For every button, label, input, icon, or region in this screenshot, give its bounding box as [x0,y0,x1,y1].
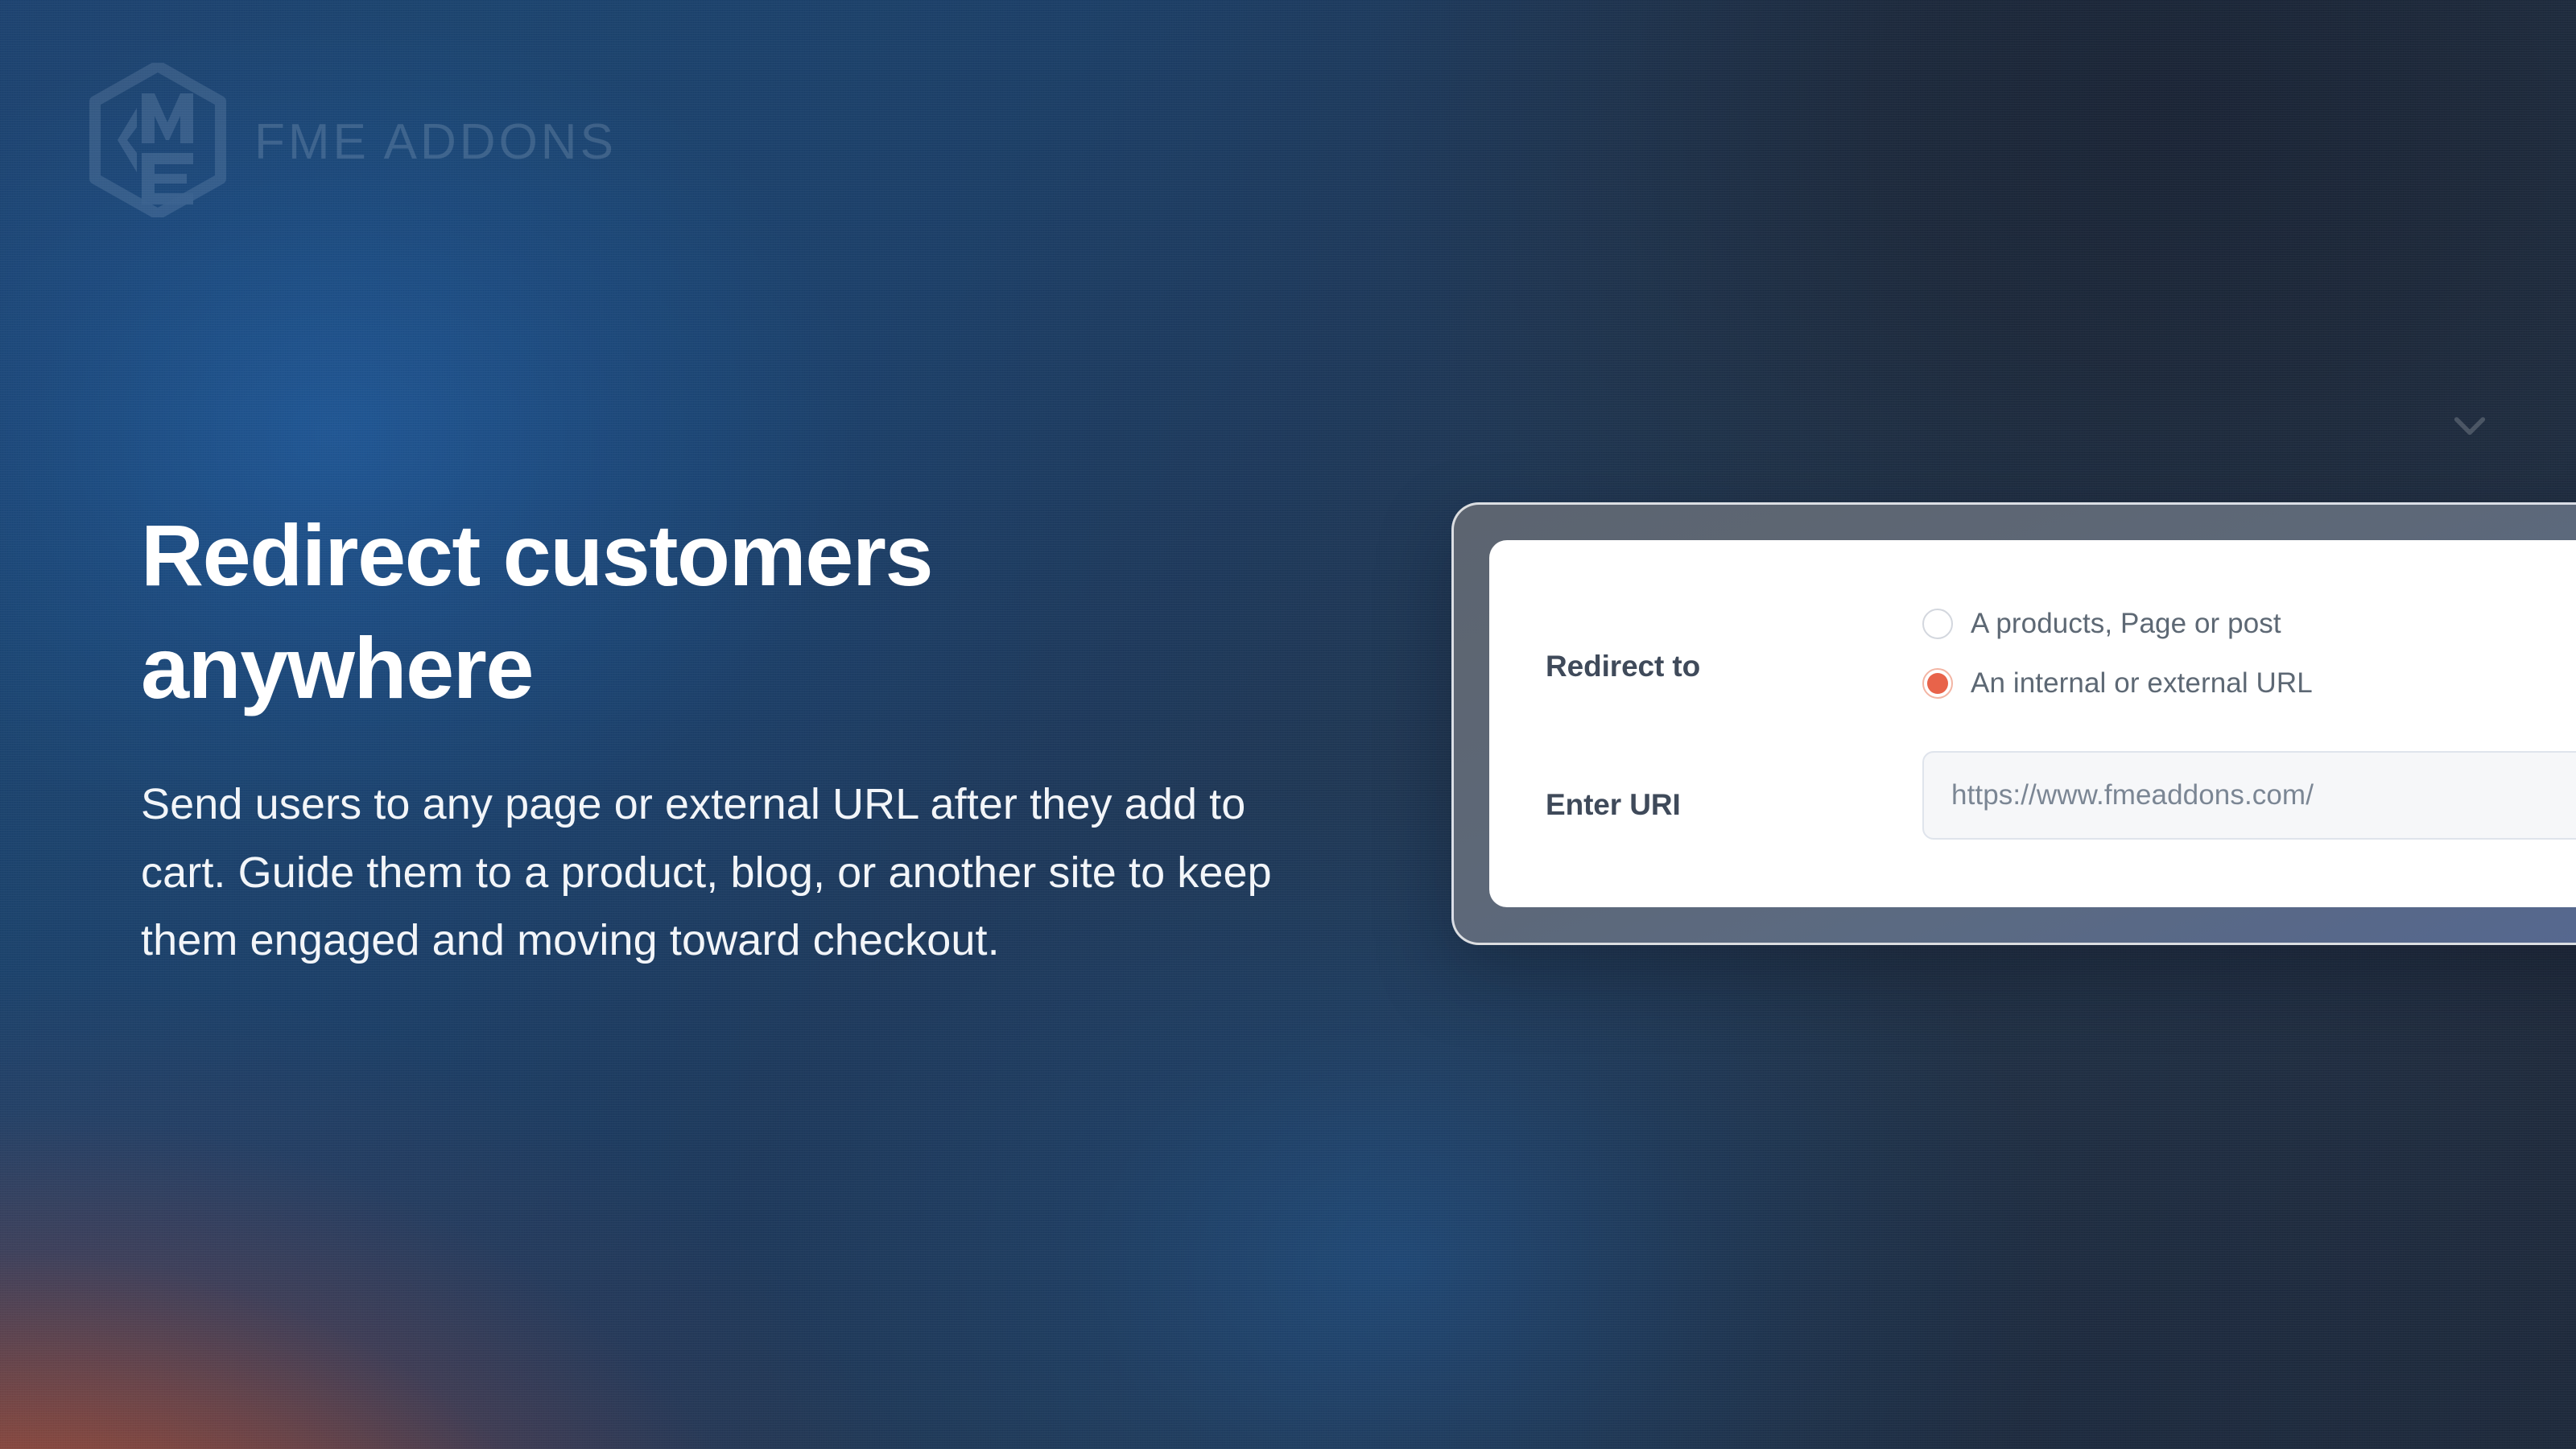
radio-label-internal-external-url: An internal or external URL [1971,667,2313,700]
redirect-to-label: Redirect to [1546,608,1922,683]
enter-uri-control [1922,751,2576,840]
radio-option-internal-external-url[interactable]: An internal or external URL [1922,667,2576,700]
chevron-down-icon[interactable] [2447,402,2492,448]
redirect-settings-card: Redirect to A products, Page or post An … [1451,502,2576,945]
enter-uri-row: Enter URI [1546,751,2576,840]
hero-copy: Redirect customers anywhere Send users t… [141,499,1332,975]
card-surface: Redirect to A products, Page or post An … [1489,540,2576,907]
page-title: Redirect customers anywhere [141,499,1332,725]
hero-description: Send users to any page or external URL a… [141,770,1304,975]
brand-name: FME ADDONS [254,113,617,167]
fme-hexagon-logo-icon [89,63,227,217]
redirect-to-row: Redirect to A products, Page or post An … [1546,608,2576,700]
radio-unselected-icon[interactable] [1922,609,1953,639]
radio-selected-icon[interactable] [1922,668,1953,699]
uri-input[interactable] [1922,751,2576,840]
redirect-to-options: A products, Page or post An internal or … [1922,608,2576,700]
radio-label-product-page-post: A products, Page or post [1971,608,2281,640]
radio-option-product-page-post[interactable]: A products, Page or post [1922,608,2576,640]
brand-logo: FME ADDONS [89,63,617,217]
enter-uri-label: Enter URI [1546,751,1922,822]
